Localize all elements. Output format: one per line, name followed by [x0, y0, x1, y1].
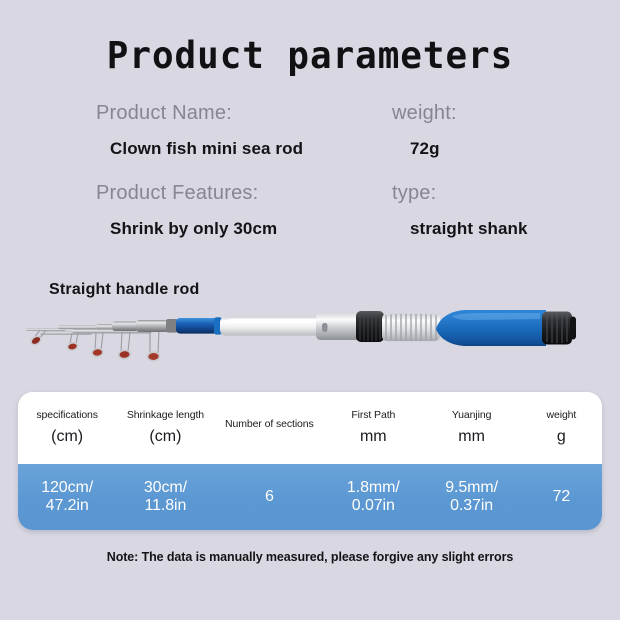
- header-title-weight: weight: [546, 410, 576, 422]
- table-header-cell-shrinkage-length: Shrinkage length (cm): [116, 392, 214, 464]
- spec-label-product-name: Product Name:: [96, 102, 303, 125]
- header-unit-specifications: (cm): [51, 428, 83, 446]
- table-header-cell-specifications: specifications (cm): [18, 392, 116, 464]
- product-image-caption: Straight handle rod: [49, 281, 199, 299]
- table-header-cell-number-of-sections: Number of sections: [215, 392, 325, 464]
- header-title-specifications: specifications: [36, 410, 98, 422]
- value-weight: 72: [553, 488, 571, 506]
- spec-value-type: straight shank: [410, 219, 528, 239]
- spec-value-weight: 72g: [410, 139, 457, 159]
- header-unit-yuanjing: mm: [458, 428, 485, 446]
- table-cell-number-of-sections: 6: [215, 464, 325, 530]
- rod-blue-band: [176, 318, 218, 334]
- spec-weight: weight: 72g: [392, 102, 457, 159]
- header-unit-shrinkage-length: (cm): [149, 428, 181, 446]
- parameters-table: specifications (cm) Shrinkage length (cm…: [18, 392, 602, 530]
- rod-reel-seat: [316, 311, 384, 342]
- value-specifications: 120cm/ 47.2in: [41, 479, 93, 515]
- table-cell-specifications: 120cm/ 47.2in: [18, 464, 116, 530]
- rod-metal-joints: [112, 319, 178, 333]
- header-unit-first-path: mm: [360, 428, 387, 446]
- spec-label-product-features: Product Features:: [96, 182, 277, 205]
- value-number-of-sections: 6: [265, 488, 274, 506]
- spec-product-name: Product Name: Clown fish mini sea rod: [96, 102, 303, 159]
- fishing-rod-illustration: [0, 300, 620, 390]
- spec-value-product-features: Shrink by only 30cm: [110, 219, 277, 239]
- header-title-first-path: First Path: [351, 410, 395, 422]
- product-image: [0, 300, 620, 390]
- spec-label-weight: weight:: [392, 102, 457, 125]
- table-cell-first-path: 1.8mm/ 0.07in: [324, 464, 422, 530]
- value-first-path: 1.8mm/ 0.07in: [347, 479, 400, 515]
- spec-type: type: straight shank: [392, 182, 528, 239]
- spec-grid: Product Name: Clown fish mini sea rod we…: [0, 102, 620, 262]
- header-title-shrinkage-length: Shrinkage length: [127, 410, 204, 422]
- header-title-yuanjing: Yuanjing: [452, 410, 492, 422]
- rod-butt-cap: [542, 312, 576, 345]
- table-cell-weight: 72: [521, 464, 602, 530]
- table-cell-yuanjing: 9.5mm/ 0.37in: [422, 464, 520, 530]
- rod-ribbed-foregrip: [382, 314, 440, 342]
- table-data-row: 120cm/ 47.2in 30cm/ 11.8in 6 1.8mm/ 0.07…: [18, 464, 602, 530]
- header-unit-weight: g: [557, 428, 566, 446]
- value-yuanjing: 9.5mm/ 0.37in: [445, 479, 498, 515]
- spec-value-product-name: Clown fish mini sea rod: [110, 139, 303, 159]
- footer-note: Note: The data is manually measured, ple…: [0, 550, 620, 564]
- table-cell-shrinkage-length: 30cm/ 11.8in: [116, 464, 214, 530]
- spec-label-type: type:: [392, 182, 528, 205]
- table-header-cell-yuanjing: Yuanjing mm: [422, 392, 520, 464]
- spec-product-features: Product Features: Shrink by only 30cm: [96, 182, 277, 239]
- value-shrinkage-length: 30cm/ 11.8in: [144, 479, 187, 515]
- table-header-cell-weight: weight g: [521, 392, 602, 464]
- table-header-row: specifications (cm) Shrinkage length (cm…: [18, 392, 602, 464]
- page-title: Product parameters: [9, 34, 610, 77]
- table-header-cell-first-path: First Path mm: [324, 392, 422, 464]
- header-title-number-of-sections: Number of sections: [225, 419, 314, 431]
